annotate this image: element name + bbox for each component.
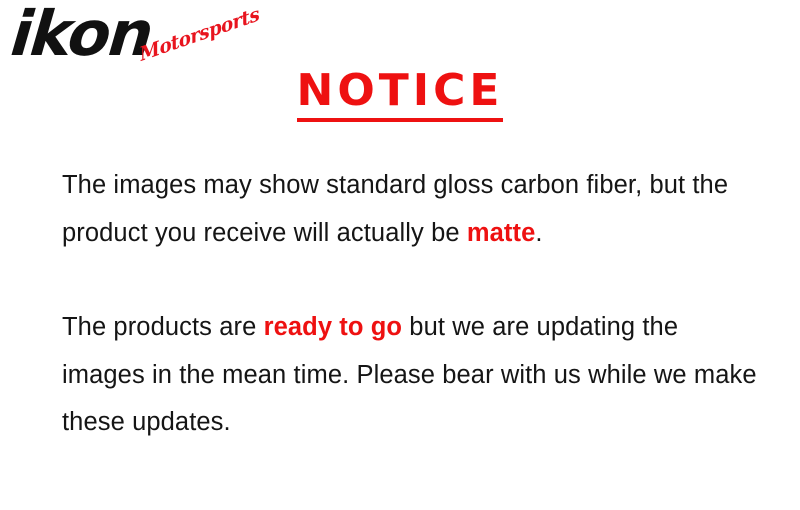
paragraph-1-emphasis-matte: matte (467, 219, 536, 247)
paragraph-2-emphasis-ready-to-go: ready to go (264, 313, 403, 341)
paragraph-gloss-vs-matte: The images may show standard gloss carbo… (62, 162, 762, 257)
paragraph-ready-to-go: The products are ready to go but we are … (62, 304, 762, 447)
notice-heading-block: NOTICE (0, 66, 800, 122)
notice-body: The images may show standard gloss carbo… (62, 162, 762, 447)
brand-wordmark: ikon (2, 0, 162, 70)
paragraph-2-lead: The products are (62, 313, 264, 341)
paragraph-1-tail: . (535, 219, 542, 247)
notice-banner: { "brand": { "wordmark": "ikon", "script… (0, 0, 800, 510)
paragraph-1-lead: The images may show standard gloss carbo… (62, 171, 728, 247)
page-title: NOTICE (295, 66, 506, 116)
title-underline-rule (297, 118, 503, 122)
